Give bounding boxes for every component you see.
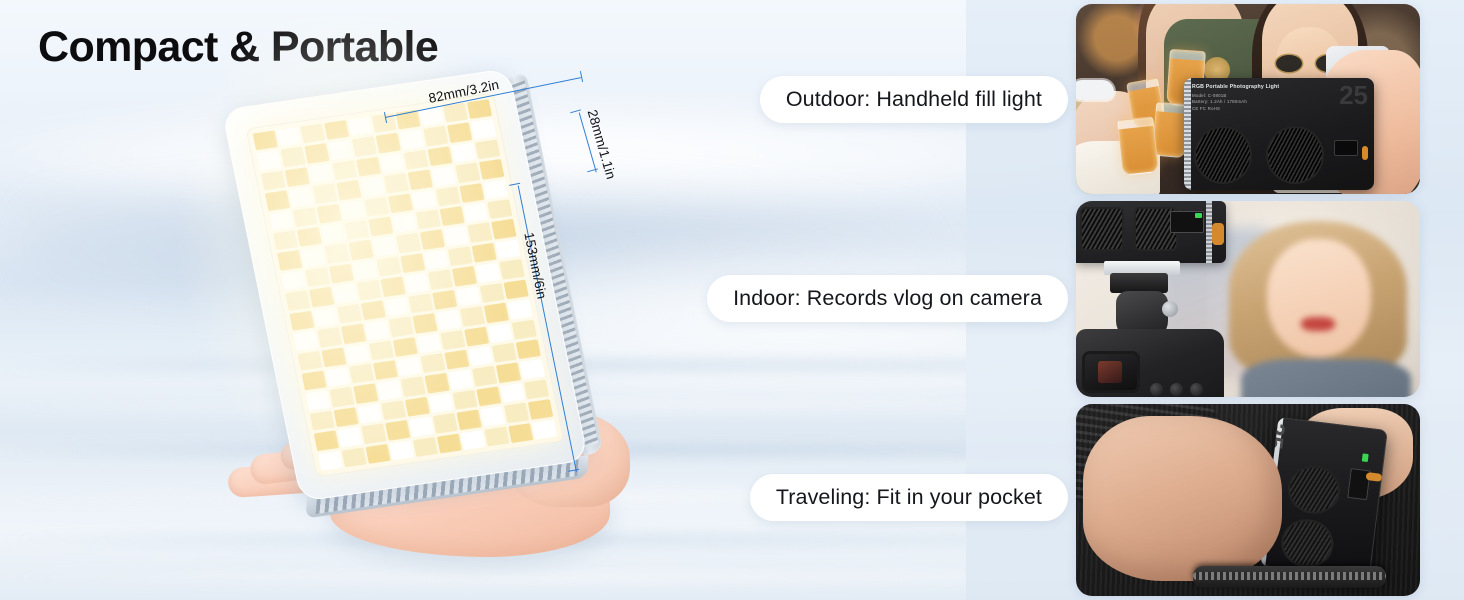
- pocket-opening: [1193, 566, 1386, 588]
- led-emitter: [385, 420, 410, 440]
- led-emitter: [317, 327, 342, 347]
- panel-diffuser: [246, 93, 565, 478]
- led-emitter: [381, 400, 406, 420]
- led-emitter: [476, 386, 501, 406]
- led-emitter: [444, 226, 469, 246]
- led-emitter: [314, 431, 339, 451]
- photo-outdoor-bar-handheld-light: RGB Portable Photography Light Model: C-…: [1076, 4, 1420, 194]
- tripod-knob: [1162, 301, 1178, 317]
- led-emitter: [388, 193, 413, 213]
- led-emitter: [338, 427, 363, 447]
- camera-dial: [1190, 383, 1203, 396]
- led-emitter: [285, 167, 310, 187]
- led-emitter: [380, 277, 405, 297]
- photo-column: RGB Portable Photography Light Model: C-…: [1076, 4, 1420, 596]
- led-emitter: [348, 117, 373, 137]
- device-back-label: RGB Portable Photography Light Model: C-…: [1192, 83, 1279, 113]
- led-emitter: [325, 367, 350, 387]
- caption-outdoor: Outdoor: Handheld fill light: [760, 76, 1068, 123]
- viewfinder-glass: [1098, 361, 1122, 383]
- led-emitter: [368, 217, 393, 237]
- led-emitter: [325, 244, 350, 264]
- photo-content: RGB Portable Photography Light Model: C-…: [1076, 4, 1420, 194]
- led-emitter: [289, 187, 314, 207]
- led-emitter: [492, 343, 517, 363]
- led-emitter: [400, 253, 425, 273]
- led-emitter: [301, 247, 326, 267]
- led-emitter: [459, 183, 484, 203]
- led-emitter: [405, 397, 430, 417]
- led-emitter: [265, 190, 290, 210]
- led-emitter: [353, 384, 378, 404]
- led-emitter: [361, 300, 386, 320]
- photo-content: [1076, 201, 1420, 397]
- led-emitter: [337, 304, 362, 324]
- device-label-line2: Battery: 1.2Ah / 1780mAh: [1192, 99, 1279, 106]
- led-emitter: [321, 347, 346, 367]
- led-emitter: [472, 243, 497, 263]
- led-emitter: [373, 360, 398, 380]
- led-emitter: [480, 406, 505, 426]
- led-emitter: [404, 273, 429, 293]
- led-emitter: [484, 426, 509, 446]
- led-emitter: [475, 139, 500, 159]
- caption-traveling: Traveling: Fit in your pocket: [750, 474, 1068, 521]
- led-emitter: [431, 166, 456, 186]
- led-emitter: [471, 119, 496, 139]
- led-emitter: [508, 423, 533, 443]
- led-emitter: [456, 286, 481, 306]
- led-emitter: [480, 283, 505, 303]
- led-emitter: [313, 307, 338, 327]
- device-knob: [1212, 223, 1224, 245]
- led-emitter: [389, 317, 414, 337]
- fan-grills: [1080, 207, 1178, 251]
- device-display: [1334, 140, 1358, 156]
- led-emitter: [318, 450, 343, 470]
- led-emitter: [309, 287, 334, 307]
- led-emitter: [452, 390, 477, 410]
- device-label-title: RGB Portable Photography Light: [1192, 83, 1279, 91]
- led-emitter: [520, 359, 545, 379]
- led-emitter: [273, 230, 298, 250]
- led-emitter: [385, 297, 410, 317]
- photo-traveling-pocket: 25 RGB Portable Photography Light: [1076, 404, 1420, 596]
- led-emitter: [420, 230, 445, 250]
- led-emitter: [341, 324, 366, 344]
- fan-grill: [1080, 207, 1124, 251]
- led-emitter: [484, 303, 509, 323]
- dimension-tick: [580, 71, 584, 82]
- led-emitter: [308, 164, 333, 184]
- led-emitter: [461, 430, 486, 450]
- person-body: [1241, 359, 1411, 397]
- led-emitter: [297, 227, 322, 247]
- led-emitter: [463, 203, 488, 223]
- led-emitter: [528, 399, 553, 419]
- led-emitter: [476, 263, 501, 283]
- led-emitter: [404, 150, 429, 170]
- led-emitter: [416, 210, 441, 230]
- led-emitter: [429, 393, 454, 413]
- product-illustration: 82mm/3.2in 28mm/1.1in 153mm/6in: [200, 55, 680, 575]
- led-emitter: [329, 264, 354, 284]
- led-emitter: [365, 444, 390, 464]
- led-emitter: [491, 219, 516, 239]
- led-emitter: [361, 424, 386, 444]
- led-emitter: [293, 207, 318, 227]
- led-emitter: [377, 380, 402, 400]
- led-emitter: [412, 313, 437, 333]
- led-emitter: [416, 333, 441, 353]
- led-emitter: [365, 320, 390, 340]
- beer-glass: [1117, 116, 1159, 175]
- led-emitter: [440, 330, 465, 350]
- led-emitter: [357, 280, 382, 300]
- led-emitter: [508, 299, 533, 319]
- led-emitter: [253, 130, 278, 150]
- led-emitter: [427, 146, 452, 166]
- led-emitter: [289, 310, 314, 330]
- led-emitter: [306, 390, 331, 410]
- led-emitter: [479, 159, 504, 179]
- fan-grill: [1278, 517, 1335, 571]
- led-emitter: [464, 326, 489, 346]
- led-emitter: [444, 350, 469, 370]
- photo-indoor-camera-vlog: [1076, 201, 1420, 397]
- led-emitter: [340, 200, 365, 220]
- led-emitter: [467, 99, 492, 119]
- led-emitter: [496, 363, 521, 383]
- led-emitter: [293, 330, 318, 350]
- hot-shoe-mount: [1110, 273, 1168, 293]
- led-emitter: [436, 186, 461, 206]
- led-emitter: [281, 270, 306, 290]
- led-emitter: [352, 137, 377, 157]
- led-emitter: [408, 293, 433, 313]
- led-emitter: [393, 337, 418, 357]
- led-emitter: [277, 250, 302, 270]
- led-emitter: [321, 224, 346, 244]
- led-emitter: [372, 237, 397, 257]
- led-emitter: [437, 433, 462, 453]
- led-emitter: [277, 127, 302, 147]
- led-emitter: [488, 323, 513, 343]
- led-emitter: [313, 184, 338, 204]
- led-emitter: [413, 437, 438, 457]
- led-emitter: [436, 310, 461, 330]
- caption-indoor: Indoor: Records vlog on camera: [707, 275, 1068, 322]
- led-emitter: [425, 373, 450, 393]
- led-emitter: [328, 140, 353, 160]
- vlogger-person: [1223, 221, 1413, 397]
- led-emitter: [389, 440, 414, 460]
- fan-grills: [1278, 463, 1342, 571]
- led-emitter: [468, 346, 493, 366]
- camera-dial: [1170, 383, 1183, 396]
- led-emitter: [409, 417, 434, 437]
- led-emitter: [376, 257, 401, 277]
- led-emitter: [332, 160, 357, 180]
- person-face: [1267, 239, 1371, 357]
- led-emitter: [532, 419, 557, 439]
- led-emitter: [408, 170, 433, 190]
- camera-dial: [1150, 383, 1163, 396]
- device-knob: [1362, 146, 1368, 160]
- photo-content: 25 RGB Portable Photography Light: [1076, 404, 1420, 596]
- led-emitter: [467, 223, 492, 243]
- led-emitter: [269, 210, 294, 230]
- led-emitter: [433, 413, 458, 433]
- led-emitter: [384, 173, 409, 193]
- person-lips: [1301, 317, 1335, 331]
- led-emitter: [460, 306, 485, 326]
- led-emitter: [499, 259, 524, 279]
- led-emitter: [524, 379, 549, 399]
- camera-dials: [1150, 383, 1203, 396]
- led-emitter: [349, 364, 374, 384]
- led-emitter: [516, 339, 541, 359]
- fan-grill: [1285, 463, 1342, 517]
- led-emitter: [310, 410, 335, 430]
- led-emitter: [357, 404, 382, 424]
- led-emitter: [302, 370, 327, 390]
- led-emitter: [336, 180, 361, 200]
- led-emitter: [360, 177, 385, 197]
- led-emitter: [500, 383, 525, 403]
- led-emitter: [487, 199, 512, 219]
- led-emitter: [364, 197, 389, 217]
- power-led-indicator: [1195, 213, 1202, 218]
- device-label-certs: CE FC RoHS: [1192, 106, 1279, 113]
- led-emitter: [380, 153, 405, 173]
- led-emitter: [424, 250, 449, 270]
- led-emitter: [324, 120, 349, 140]
- led-emitter: [300, 124, 325, 144]
- led-emitter: [397, 357, 422, 377]
- led-emitter: [452, 266, 477, 286]
- led-emitter: [281, 147, 306, 167]
- led-emitter: [472, 366, 497, 386]
- led-emitter: [345, 344, 370, 364]
- led-emitter: [257, 150, 282, 170]
- led-emitter: [401, 377, 426, 397]
- led-emitter: [451, 143, 476, 163]
- led-emitter: [298, 350, 323, 370]
- led-light-device-back: RGB Portable Photography Light Model: C-…: [1184, 78, 1374, 190]
- led-emitter: [448, 246, 473, 266]
- led-emitter: [369, 340, 394, 360]
- led-emitter: [261, 170, 286, 190]
- led-light-device-mounted: [1076, 201, 1226, 263]
- led-emitter: [457, 410, 482, 430]
- fan-grill: [1266, 126, 1324, 184]
- device-number: 25: [1339, 82, 1368, 108]
- led-emitter: [376, 133, 401, 153]
- led-emitter: [356, 157, 381, 177]
- fan-grills: [1194, 126, 1324, 184]
- vent-strip: [1184, 78, 1191, 190]
- led-emitter: [285, 290, 310, 310]
- led-emitter: [392, 213, 417, 233]
- inserting-hand: [1083, 416, 1283, 581]
- led-emitter: [432, 290, 457, 310]
- led-emitter: [448, 370, 473, 390]
- led-emitter: [334, 407, 359, 427]
- led-emitter: [495, 239, 520, 259]
- device-label-line1: Model: C-0801B: [1192, 93, 1279, 100]
- led-emitter: [396, 233, 421, 253]
- led-emitter: [305, 267, 330, 287]
- led-emitter: [512, 319, 537, 339]
- led-array: [253, 99, 557, 471]
- led-emitter: [421, 353, 446, 373]
- led-emitter: [317, 204, 342, 224]
- product-feature-banner: Compact & Portable: [0, 0, 1464, 600]
- sunglasses-on-head-icon: [1076, 80, 1114, 100]
- led-emitter: [342, 447, 367, 467]
- led-emitter: [447, 123, 472, 143]
- led-emitter: [349, 240, 374, 260]
- led-emitter: [344, 220, 369, 240]
- led-emitter: [353, 260, 378, 280]
- led-emitter: [440, 206, 465, 226]
- led-emitter: [423, 126, 448, 146]
- led-emitter: [503, 279, 528, 299]
- led-emitter: [400, 130, 425, 150]
- led-emitter: [329, 387, 354, 407]
- fan-grill: [1194, 126, 1252, 184]
- led-emitter: [504, 403, 529, 423]
- led-emitter: [333, 284, 358, 304]
- led-emitter: [483, 179, 508, 199]
- led-emitter: [304, 144, 329, 164]
- zipper: [1193, 572, 1386, 580]
- led-emitter: [428, 270, 453, 290]
- led-emitter: [412, 190, 437, 210]
- power-led-indicator: [1361, 454, 1368, 463]
- led-emitter: [455, 163, 480, 183]
